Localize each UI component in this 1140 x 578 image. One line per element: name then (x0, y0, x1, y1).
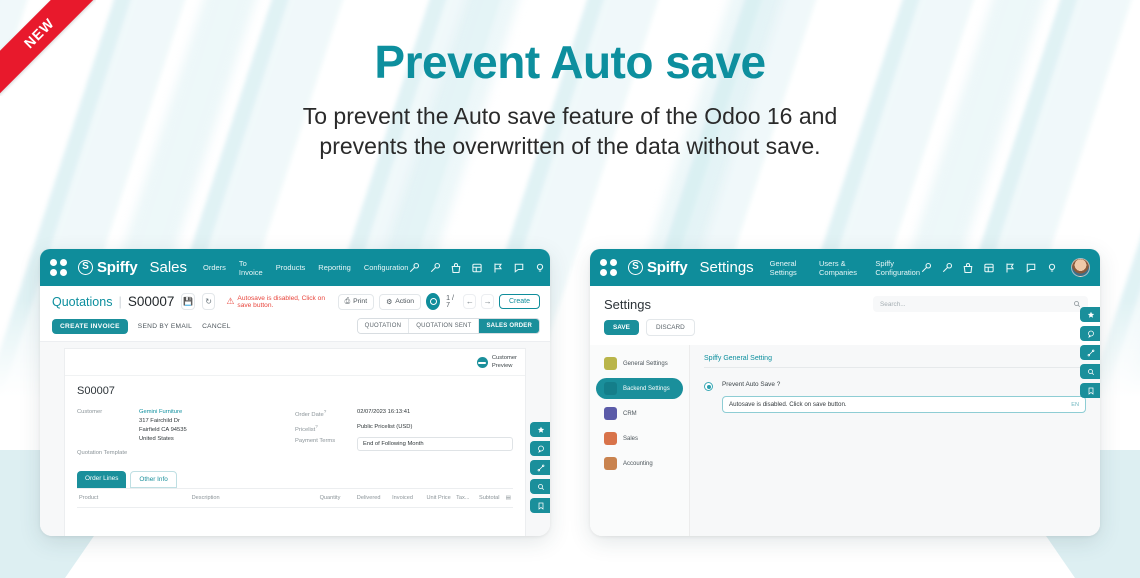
setting-prevent-auto-save: Prevent Auto Save ? Autosave is disabled… (704, 381, 1086, 413)
chat-icon[interactable] (513, 262, 525, 274)
sidebar-item-crm[interactable]: CRM (596, 403, 683, 424)
print-button[interactable]: ⎙ Print (338, 294, 374, 310)
question-chat-icon[interactable] (530, 441, 550, 456)
grid-icon[interactable] (471, 262, 483, 274)
field-pricelist-label: Pricelist? (295, 423, 357, 433)
field-pricelist-value: Public Pricelist (USD) (357, 423, 412, 433)
form-columns: Customer Gemini Furniture 317 Fairchild … (77, 408, 513, 461)
order-lines-header: Product Description Quantity Delivered I… (77, 488, 513, 508)
gear-icon: ⚙ (386, 298, 392, 306)
form-notebook-tabs: Order Lines Other Info (77, 471, 513, 488)
spiffy-icon (604, 382, 617, 395)
sidebar-item-label: Sales (623, 436, 638, 442)
tab-other-info[interactable]: Other Info (130, 471, 176, 488)
brand-logo[interactable]: Spiffy (78, 259, 137, 276)
customer-name[interactable]: Gemini Furniture (139, 408, 187, 417)
stat-button-box: Customer Preview (65, 349, 525, 376)
star-icon[interactable] (530, 422, 550, 437)
bag-icon[interactable] (962, 262, 974, 274)
breadcrumb: Quotations | S00007 (52, 294, 174, 309)
bug-icon[interactable] (408, 262, 420, 274)
control-panel-actions: ⎙ Print ⚙ Action 1 / 7 ← → Create (338, 293, 540, 310)
autosave-message-input[interactable]: Autosave is disabled. Click on save butt… (722, 396, 1086, 413)
brand-name: Spiffy (647, 259, 687, 276)
field-order-date-label: Order Date? (295, 408, 357, 418)
search-input[interactable]: Search... (873, 296, 1088, 312)
hero-subtitle: To prevent the Auto save feature of the … (0, 102, 1140, 161)
wrench-icon[interactable] (530, 460, 550, 475)
nav-item-users-companies[interactable]: Users & Companies (819, 259, 862, 277)
save-button[interactable]: SAVE (604, 320, 639, 335)
nav-item-reporting[interactable]: Reporting (318, 263, 351, 272)
customer-preview-line-1: Customer (492, 355, 517, 363)
search-placeholder: Search... (880, 301, 906, 308)
hero-section: Prevent Auto save To prevent the Auto sa… (0, 38, 1140, 161)
customer-address-line-3: United States (139, 435, 187, 444)
breadcrumb-separator: | (118, 294, 121, 309)
arrow-right-icon[interactable]: → (481, 294, 494, 309)
save-icon[interactable]: 💾 (181, 293, 194, 310)
sidebar-item-label: Accounting (623, 461, 653, 467)
print-label: Print (353, 298, 367, 305)
customer-preview-label: Customer Preview (492, 355, 517, 371)
field-pricelist: Pricelist? Public Pricelist (USD) (295, 423, 513, 433)
sales-nav-menu: Orders To Invoice Products Reporting Con… (203, 259, 408, 277)
create-invoice-button[interactable]: CREATE INVOICE (52, 319, 128, 334)
sales-screenshot: Spiffy Sales Orders To Invoice Products … (40, 249, 550, 536)
discard-button[interactable]: DISCARD (646, 319, 695, 336)
customer-preview-button[interactable]: Customer Preview (477, 355, 517, 371)
settings-nav-menu: General Settings Users & Companies Spiff… (770, 259, 920, 277)
sales-navbar: Spiffy Sales Orders To Invoice Products … (40, 249, 550, 286)
general-settings-icon (604, 357, 617, 370)
column-settings-icon[interactable]: ▤ (506, 495, 511, 501)
payment-terms-input[interactable]: End of Following Month (357, 437, 513, 451)
bug-alt-icon[interactable] (429, 262, 441, 274)
nav-item-general-settings[interactable]: General Settings (770, 259, 806, 277)
sales-navbar-systray (408, 258, 550, 277)
brand-logo[interactable]: Spiffy (628, 259, 687, 276)
bag-icon[interactable] (450, 262, 462, 274)
nav-item-to-invoice[interactable]: To Invoice (239, 259, 263, 277)
spiffy-icon (78, 260, 93, 275)
breadcrumb-parent[interactable]: Quotations (52, 295, 112, 309)
customer-preview-line-2: Preview (492, 363, 517, 371)
star-icon[interactable] (1080, 307, 1100, 322)
field-customer-value: Gemini Furniture 317 Fairchild Dr Fairfi… (139, 408, 187, 444)
warning-triangle-icon: ⚠ (226, 297, 234, 306)
status-badge-quotation-sent[interactable]: QUOTATION SENT (409, 319, 479, 333)
circle-toggle-icon[interactable] (426, 293, 440, 310)
column-product: Product (79, 495, 192, 501)
wrench-icon[interactable] (1080, 345, 1100, 360)
autosave-warning-text: Autosave is disabled, Click on save butt… (237, 295, 330, 309)
settings-screenshot: Spiffy Settings General Settings Users &… (590, 249, 1100, 536)
tab-order-lines[interactable]: Order Lines (77, 471, 126, 488)
app-name: Sales (149, 259, 187, 276)
language-badge[interactable]: EN (1071, 402, 1079, 408)
magnifier-icon[interactable] (530, 479, 550, 494)
bug-icon[interactable] (920, 262, 932, 274)
field-customer: Customer Gemini Furniture 317 Fairchild … (77, 408, 295, 444)
column-subtotal: Subtotal (479, 495, 506, 501)
control-panel-top-row: Quotations | S00007 💾 ↻ ⚠ Autosave is di… (40, 286, 550, 314)
status-badge-sales-order[interactable]: SALES ORDER (479, 319, 539, 333)
customer-address-line-2: Fairfield CA 94535 (139, 426, 187, 435)
form-sheet: Customer Preview S00007 Customer Gemini … (64, 348, 526, 536)
nav-item-configuration[interactable]: Configuration (364, 263, 409, 272)
status-bar: QUOTATION QUOTATION SENT SALES ORDER (357, 318, 540, 334)
field-payment-terms-label: Payment Terms (295, 437, 357, 451)
sidebar-item-label: General Settings (623, 361, 668, 367)
settings-side-tabs (1080, 307, 1100, 398)
form-left-column: Customer Gemini Furniture 317 Fairchild … (77, 408, 295, 461)
bookmark-icon[interactable] (1080, 383, 1100, 398)
field-order-date-value: 02/07/2023 16:13:41 (357, 408, 410, 418)
prevent-auto-save-label: Prevent Auto Save ? (722, 381, 1086, 388)
form-right-column: Order Date? 02/07/2023 16:13:41 Pricelis… (295, 408, 513, 461)
flag-icon[interactable] (1004, 262, 1016, 274)
field-customer-label: Customer (77, 408, 139, 444)
sales-icon (604, 432, 617, 445)
settings-button-row: SAVE DISCARD (590, 314, 1100, 345)
crm-icon (604, 407, 617, 420)
apps-grid-icon[interactable] (600, 259, 617, 277)
settings-navbar: Spiffy Settings General Settings Users &… (590, 249, 1100, 286)
discard-icon[interactable]: ↻ (202, 293, 215, 310)
prevent-auto-save-checkbox[interactable] (704, 382, 713, 391)
status-badge-quotation[interactable]: QUOTATION (358, 319, 410, 333)
sales-side-tabs (530, 422, 550, 513)
lightbulb-icon[interactable] (534, 262, 546, 274)
form-sheet-body: S00007 Customer Gemini Furniture 317 Fai… (65, 376, 525, 536)
sales-control-panel: Quotations | S00007 💾 ↻ ⚠ Autosave is di… (40, 286, 550, 342)
section-title: Spiffy General Setting (704, 355, 1086, 368)
settings-page-title: Settings (604, 297, 651, 312)
sidebar-item-label: CRM (623, 411, 637, 417)
sidebar-item-sales[interactable]: Sales (596, 428, 683, 449)
column-invoiced: Invoiced (392, 495, 426, 501)
nav-item-spiffy-configuration[interactable]: Spiffy Configuration (875, 259, 920, 277)
column-unit-price: Unit Price (426, 495, 456, 501)
column-description: Description (192, 495, 320, 501)
app-name: Settings (699, 259, 753, 276)
grid-icon[interactable] (983, 262, 995, 274)
autosave-warning: ⚠ Autosave is disabled, Click on save bu… (226, 295, 330, 309)
breadcrumb-record: S00007 (128, 294, 175, 309)
autosave-message-value: Autosave is disabled. Click on save butt… (729, 401, 847, 408)
sidebar-item-label: Backend Settings (623, 386, 670, 392)
brand-name: Spiffy (97, 259, 137, 276)
sidebar-item-general-settings[interactable]: General Settings (596, 353, 683, 374)
action-label: Action (395, 298, 414, 305)
pager: 1 / 7 (446, 295, 457, 309)
sales-form-area: Customer Preview S00007 Customer Gemini … (40, 342, 550, 536)
accounting-icon (604, 457, 617, 470)
bug-alt-icon[interactable] (941, 262, 953, 274)
settings-navbar-systray (920, 258, 1092, 277)
bookmark-icon[interactable] (530, 498, 550, 513)
nav-item-products[interactable]: Products (276, 263, 306, 272)
sidebar-item-backend-settings[interactable]: Backend Settings (596, 378, 683, 399)
hero-subtitle-line-1: To prevent the Auto save feature of the … (0, 102, 1140, 131)
print-icon: ⎙ (345, 298, 350, 306)
flag-icon[interactable] (492, 262, 504, 274)
sidebar-item-accounting[interactable]: Accounting (596, 453, 683, 474)
apps-grid-icon[interactable] (50, 259, 67, 277)
settings-body: General Settings Backend Settings CRM Sa… (590, 345, 1100, 536)
order-lines-empty-area (77, 508, 513, 536)
question-chat-icon[interactable] (1080, 326, 1100, 341)
control-panel-button-row: CREATE INVOICE SEND BY EMAIL CANCEL QUOT… (40, 314, 550, 341)
nav-item-orders[interactable]: Orders (203, 263, 226, 272)
field-payment-terms: Payment Terms End of Following Month (295, 437, 513, 451)
field-quotation-template: Quotation Template (77, 449, 295, 456)
settings-sidebar: General Settings Backend Settings CRM Sa… (590, 345, 690, 536)
magnifier-icon[interactable] (1080, 364, 1100, 379)
column-tax: Tax... (456, 495, 479, 501)
arrow-left-icon[interactable]: ← (463, 294, 476, 309)
spiffy-icon (628, 260, 643, 275)
record-title: S00007 (77, 385, 513, 397)
lightbulb-icon[interactable] (1046, 262, 1058, 274)
field-order-date: Order Date? 02/07/2023 16:13:41 (295, 408, 513, 418)
settings-header: Settings Search... (590, 286, 1100, 314)
column-delivered: Delivered (357, 495, 392, 501)
action-button[interactable]: ⚙ Action (379, 294, 421, 310)
create-button[interactable]: Create (499, 294, 540, 309)
customer-preview-icon (477, 357, 488, 368)
customer-address-line-1: 317 Fairchild Dr (139, 417, 187, 426)
page-title: Prevent Auto save (0, 38, 1140, 86)
send-by-email-button[interactable]: SEND BY EMAIL (138, 323, 192, 330)
column-quantity: Quantity (320, 495, 357, 501)
cancel-button[interactable]: CANCEL (202, 323, 231, 330)
avatar[interactable] (1071, 258, 1090, 277)
settings-main-panel: Spiffy General Setting Prevent Auto Save… (690, 345, 1100, 536)
chat-icon[interactable] (1025, 262, 1037, 274)
setting-content: Prevent Auto Save ? Autosave is disabled… (722, 381, 1086, 413)
field-quotation-template-label: Quotation Template (77, 449, 139, 456)
hero-subtitle-line-2: prevents the overwritten of the data wit… (0, 132, 1140, 161)
